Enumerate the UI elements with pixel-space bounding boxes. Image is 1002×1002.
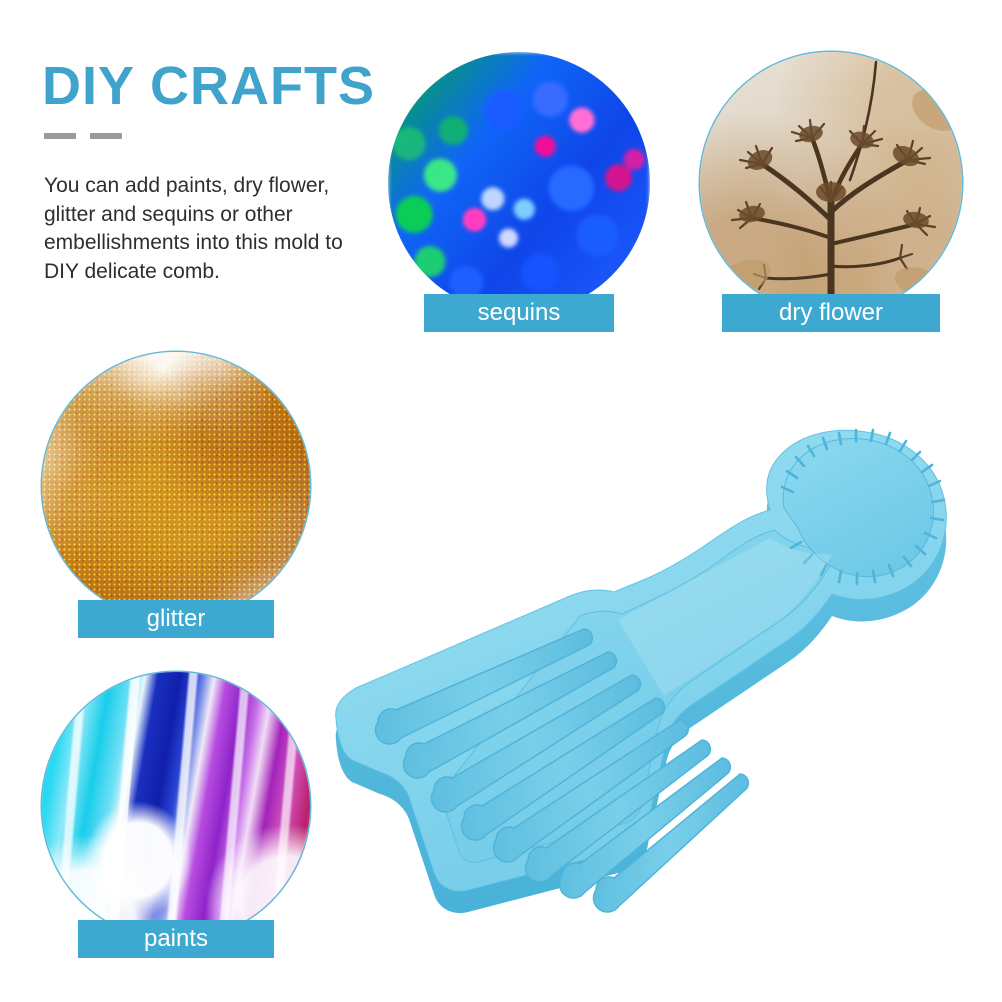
description-text: You can add paints, dry flower, glitter … (44, 172, 374, 286)
swatch-label-glitter: glitter (78, 600, 274, 638)
swatch-glitter: glitter (42, 352, 310, 620)
dried-branch-illustration (700, 52, 962, 314)
swatch-label-paints: paints (78, 920, 274, 958)
glitter-specks (42, 352, 310, 620)
page-title: DIY CRAFTS (42, 58, 375, 115)
swatch-label-dry-flower: dry flower (722, 294, 940, 332)
swatch-dry-flower: dry flower (700, 52, 962, 314)
divider-dash (90, 133, 122, 139)
paints-image (42, 672, 310, 940)
title-divider (44, 133, 122, 139)
swatch-label-sequins: sequins (424, 294, 614, 332)
paint-highlights (42, 672, 310, 940)
product-image-comb-mold (318, 420, 978, 920)
dry-flower-image (700, 52, 962, 314)
swatch-paints: paints (42, 672, 310, 940)
swatch-sequins: sequins (388, 52, 650, 314)
divider-dash (44, 133, 76, 139)
glitter-image (42, 352, 310, 620)
comb-mold-illustration (318, 420, 978, 920)
sequins-image (388, 52, 650, 314)
product-info-graphic: DIY CRAFTS You can add paints, dry flowe… (0, 0, 1002, 1002)
